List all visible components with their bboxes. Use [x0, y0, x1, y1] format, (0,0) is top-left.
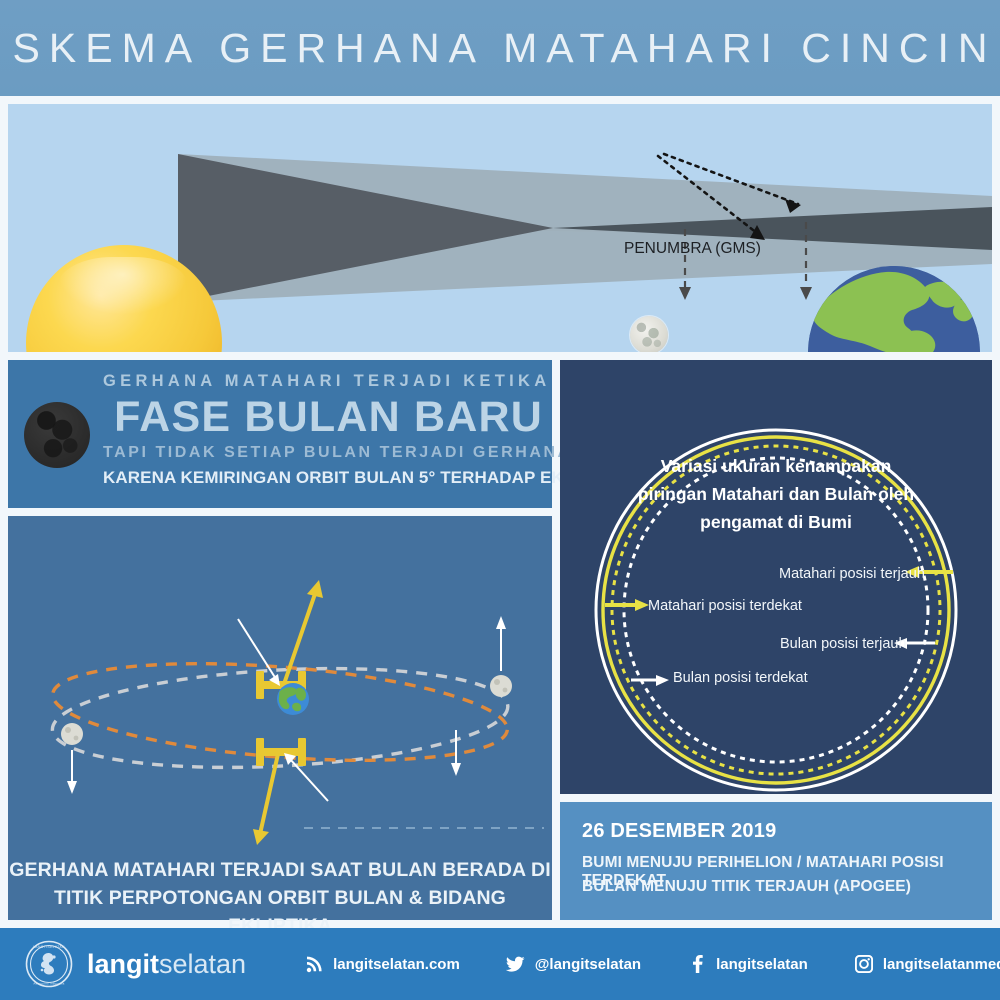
social-link-twitter[interactable]: @langitselatan — [506, 954, 641, 974]
ecliptic-plane-ellipse — [50, 658, 510, 778]
svg-text:Astronomi Indonesia: Astronomi Indonesia — [33, 981, 64, 985]
eclipse-geometry-panel: PENUMBRA (GMS) UMBRA (GMT) ANTUMBRA (GMC… — [8, 104, 992, 352]
apparent-size-title-line3: pengamat di Bumi — [611, 508, 941, 536]
moon-icon — [630, 316, 668, 352]
label-bulan-terdekat: Bulan posisi terdekat — [673, 670, 808, 686]
social-label-instagram: langitselatanmedia — [883, 956, 1000, 973]
label-penumbra: PENUMBRA (GMS) — [624, 240, 761, 258]
eclipse-area-arrowhead-bottom — [253, 829, 269, 845]
new-moon-icon — [24, 402, 90, 468]
twitter-icon — [506, 954, 526, 974]
sun-gloss — [58, 257, 188, 315]
facebook-icon — [687, 954, 707, 974]
infographic-page: SKEMA GERHANA MATAHARI CINCIN — [0, 0, 1000, 1000]
brand-wordmark-bold: langit — [87, 949, 159, 979]
social-link-website[interactable]: langitselatan.com — [304, 954, 460, 974]
label-bulan-terjauh: Bulan posisi terjauh — [780, 636, 907, 652]
label-matahari-terdekat: Matahari posisi terdekat — [648, 598, 802, 614]
earth-continents — [808, 266, 980, 352]
social-link-facebook[interactable]: langitselatan — [687, 954, 808, 974]
langitselatan-seal-icon: LANGITSELATAN Astronomi Indonesia — [25, 940, 73, 988]
apparent-size-title: Variasi ukuran kenampakan piringan Matah… — [611, 452, 941, 536]
earth-icon — [808, 266, 980, 352]
arrowhead-matahari-terdekat — [635, 599, 649, 611]
highest-moon-arrowhead — [496, 616, 506, 629]
eclipse-area-arrowhead-top — [307, 580, 323, 598]
eclipse-date: 26 DESEMBER 2019 — [582, 820, 776, 843]
orbit-caption-line1: GERHANA MATAHARI TERJADI SAAT BULAN BERA… — [8, 856, 552, 884]
phase-line-2: FASE BULAN BARU — [103, 394, 543, 440]
social-label-facebook: langitselatan — [716, 956, 808, 973]
brand-logo[interactable]: LANGITSELATAN Astronomi Indonesia langit… — [25, 940, 246, 988]
brand-wordmark-light: selatan — [159, 949, 246, 979]
node-label-arrow-lower — [290, 759, 328, 801]
phase-text-block: GERHANA MATAHARI TERJADI KETIKA FASE BUL… — [103, 368, 543, 490]
arrowhead-bulan-terdekat — [656, 675, 669, 686]
header-bar: SKEMA GERHANA MATAHARI CINCIN — [0, 0, 1000, 96]
lowest-moon-arrowhead — [67, 781, 77, 794]
phase-line-4: KARENA KEMIRINGAN ORBIT BULAN 5° TERHADA… — [103, 466, 543, 490]
moon-lowest-icon — [61, 723, 83, 745]
social-links: langitselatan.com @langitselatan langits… — [304, 954, 1000, 974]
svg-text:LANGITSELATAN: LANGITSELATAN — [33, 945, 65, 949]
footer-bar: LANGITSELATAN Astronomi Indonesia langit… — [0, 928, 1000, 1000]
apparent-size-svg — [560, 360, 992, 794]
phase-line-1: GERHANA MATAHARI TERJADI KETIKA — [103, 368, 543, 394]
ecliptic-label-arrowhead — [451, 763, 461, 776]
apparent-size-title-line2: piringan Matahari dan Bulan oleh — [611, 480, 941, 508]
phase-line-3: TAPI TIDAK SETIAP BULAN TERJADI GERHANA — [103, 440, 543, 466]
earth-icon-small — [276, 682, 310, 716]
moon-highest-icon — [490, 675, 512, 697]
apparent-size-panel: Variasi ukuran kenampakan piringan Matah… — [560, 360, 992, 794]
apparent-size-title-line1: Variasi ukuran kenampakan — [611, 452, 941, 480]
social-link-instagram[interactable]: langitselatanmedia — [854, 954, 1000, 974]
label-matahari-terjauh: Matahari posisi terjauh — [779, 566, 925, 582]
rss-icon — [304, 954, 324, 974]
brand-wordmark: langitselatan — [87, 949, 246, 979]
social-label-website: langitselatan.com — [333, 956, 460, 973]
page-title: SKEMA GERHANA MATAHARI CINCIN — [4, 25, 997, 72]
eclipse-date-panel: 26 DESEMBER 2019 BUMI MENUJU PERIHELION … — [560, 802, 992, 920]
eclipse-date-note-2: BULAN MENUJU TITIK TERJAUH (APOGEE) — [582, 878, 911, 896]
instagram-icon — [854, 954, 874, 974]
new-moon-phase-panel: GERHANA MATAHARI TERJADI KETIKA FASE BUL… — [8, 360, 552, 508]
node-marker-lower — [256, 738, 306, 766]
umbra-arrowhead — [679, 287, 691, 300]
social-label-twitter: @langitselatan — [535, 956, 641, 973]
